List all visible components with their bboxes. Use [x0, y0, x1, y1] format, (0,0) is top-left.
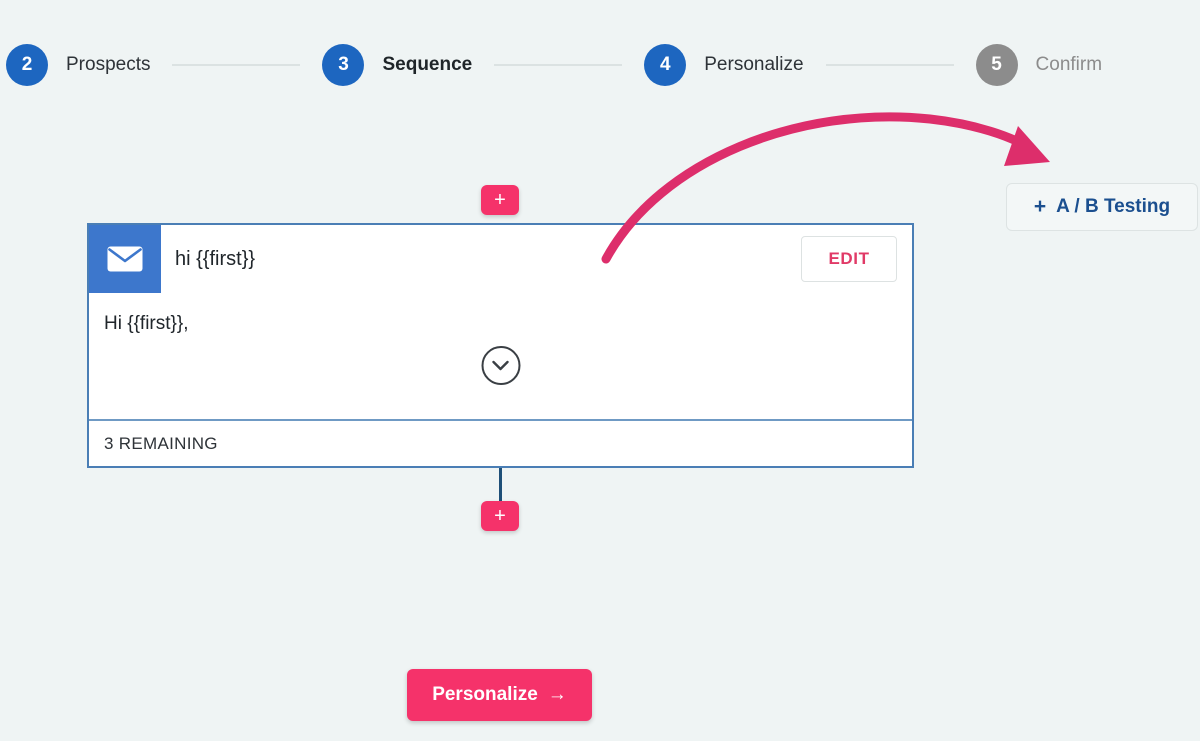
step-number-badge: 2 — [6, 44, 48, 86]
step-number-badge: 5 — [976, 44, 1018, 86]
stepper-step-sequence[interactable]: 3 Sequence — [322, 44, 472, 86]
stepper-step-prospects[interactable]: 2 Prospects — [0, 44, 150, 86]
remaining-count-label: 3 REMAINING — [104, 434, 218, 454]
progress-stepper: 2 Prospects 3 Sequence 4 Personalize 5 C… — [0, 40, 1200, 90]
email-subject-line: hi {{first}} — [175, 248, 255, 271]
add-step-below-button[interactable]: + — [481, 501, 519, 531]
ab-testing-label: A / B Testing — [1056, 196, 1170, 218]
stepper-step-confirm[interactable]: 5 Confirm — [976, 44, 1103, 86]
step-number-badge: 4 — [644, 44, 686, 86]
stepper-connector — [172, 64, 300, 66]
plus-icon: + — [1034, 195, 1046, 219]
email-body-preview: Hi {{first}}, — [104, 313, 189, 335]
step-label-confirm: Confirm — [1036, 54, 1103, 76]
plus-icon: + — [494, 506, 506, 526]
envelope-icon — [89, 225, 161, 293]
stepper-step-personalize[interactable]: 4 Personalize — [644, 44, 803, 86]
email-card-header: hi {{first}} EDIT — [89, 225, 912, 293]
cta-label: Personalize — [432, 684, 538, 706]
add-ab-testing-button[interactable]: + A / B Testing — [1006, 183, 1198, 231]
stepper-connector — [826, 64, 954, 66]
sequence-connector-line — [499, 468, 502, 504]
edit-email-button[interactable]: EDIT — [801, 236, 897, 282]
chevron-down-icon[interactable] — [481, 346, 520, 385]
email-step-card[interactable]: hi {{first}} EDIT Hi {{first}}, 3 REMAIN… — [87, 223, 914, 468]
step-label-sequence: Sequence — [382, 54, 472, 76]
step-number-badge: 3 — [322, 44, 364, 86]
add-step-above-button[interactable]: + — [481, 185, 519, 215]
step-label-personalize: Personalize — [704, 54, 803, 76]
arrow-right-icon: → — [548, 684, 567, 706]
step-label-prospects: Prospects — [66, 54, 150, 76]
email-card-footer: 3 REMAINING — [89, 421, 912, 466]
personalize-cta-button[interactable]: Personalize → — [407, 669, 592, 721]
plus-icon: + — [494, 190, 506, 210]
email-card-body: Hi {{first}}, — [89, 293, 912, 421]
stepper-connector — [494, 64, 622, 66]
